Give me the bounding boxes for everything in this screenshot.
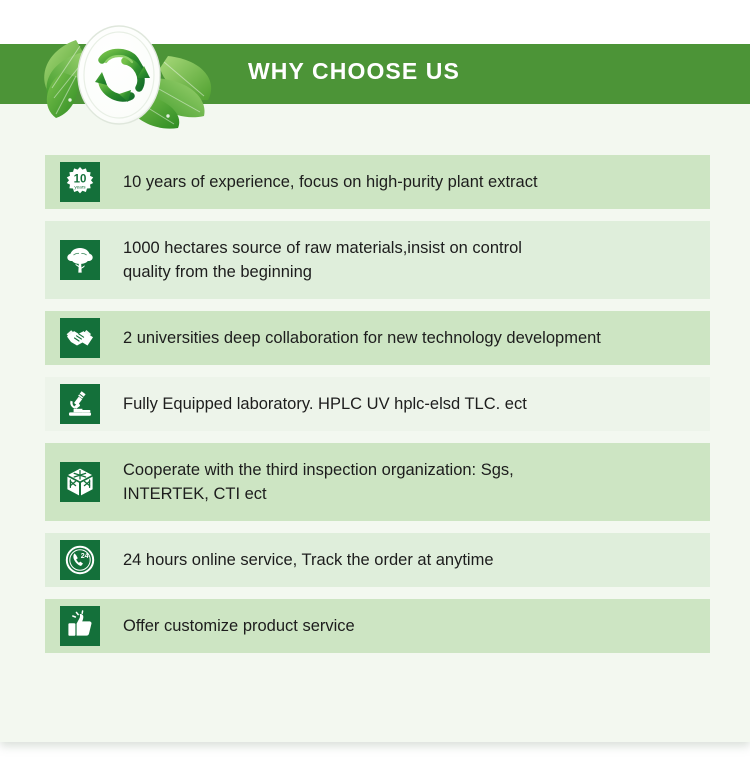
feature-row: 24 24 hours online service, Track the or…: [45, 533, 710, 587]
feature-row: Fully Equipped laboratory. HPLC UV hplc-…: [45, 377, 710, 431]
feature-line: INTERTEK, CTI ect: [123, 482, 700, 506]
feature-text: Fully Equipped laboratory. HPLC UV hplc-…: [100, 392, 710, 416]
phone-24h-icon: 24: [60, 540, 100, 580]
features-list: 10 years 10 years of experience, focus o…: [45, 155, 710, 665]
feature-line: 24 hours online service, Track the order…: [123, 548, 700, 572]
feature-row: Cooperate with the third inspection orga…: [45, 443, 710, 521]
why-choose-us-page: WHY CHOOSE US 10 years 10 years of exper…: [0, 0, 750, 766]
feature-row: 10 years 10 years of experience, focus o…: [45, 155, 710, 209]
feature-text: Cooperate with the third inspection orga…: [100, 458, 710, 506]
svg-text:24: 24: [81, 553, 89, 560]
feature-line: 10 years of experience, focus on high-pu…: [123, 170, 700, 194]
feature-row: Offer customize product service: [45, 599, 710, 653]
tree-icon: [60, 240, 100, 280]
microscope-icon: [60, 384, 100, 424]
feature-row: 1000 hectares source of raw materials,in…: [45, 221, 710, 299]
feature-text: Offer customize product service: [100, 614, 710, 638]
feature-text: 24 hours online service, Track the order…: [100, 548, 710, 572]
content-panel: WHY CHOOSE US 10 years 10 years of exper…: [0, 0, 750, 742]
feature-line: quality from the beginning: [123, 260, 700, 284]
feature-row: 2 universities deep collaboration for ne…: [45, 311, 710, 365]
leaf-circle-logo: [18, 16, 234, 134]
cube-box-icon: [60, 462, 100, 502]
handshake-icon: [60, 318, 100, 358]
page-title: WHY CHOOSE US: [248, 58, 460, 85]
ten-years-badge-icon: 10 years: [60, 162, 100, 202]
feature-line: Cooperate with the third inspection orga…: [123, 458, 700, 482]
svg-text:years: years: [74, 185, 86, 190]
feature-text: 1000 hectares source of raw materials,in…: [100, 236, 710, 284]
feature-line: 1000 hectares source of raw materials,in…: [123, 236, 700, 260]
feature-text: 2 universities deep collaboration for ne…: [100, 326, 710, 350]
feature-line: 2 universities deep collaboration for ne…: [123, 326, 700, 350]
thumbs-up-icon: [60, 606, 100, 646]
feature-text: 10 years of experience, focus on high-pu…: [100, 170, 710, 194]
feature-line: Fully Equipped laboratory. HPLC UV hplc-…: [123, 392, 700, 416]
feature-line: Offer customize product service: [123, 614, 700, 638]
